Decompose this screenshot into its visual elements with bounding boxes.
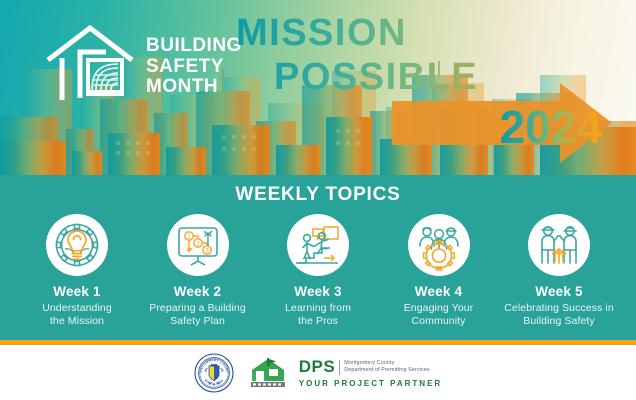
weeks-row: Week 1 Understanding the Mission: [0, 206, 636, 328]
week-5-desc: Celebrating Success in Building Safety: [504, 302, 614, 328]
dps-full-name: Montgomery County Department of Permitti…: [344, 360, 429, 375]
week-card-4[interactable]: Week 4 Engaging Your Community: [380, 214, 498, 328]
week-5-label: Week 5: [535, 284, 582, 299]
week-3-desc: Learning from the Pros: [285, 302, 351, 328]
dps-full-line1: Montgomery County: [344, 360, 429, 367]
week-1-icon-wrap: [46, 214, 108, 276]
week-3-label: Week 3: [294, 284, 341, 299]
week-2-label: Week 2: [174, 284, 221, 299]
week-4-icon-wrap: [408, 214, 470, 276]
week-2-desc: Preparing a Building Safety Plan: [149, 302, 246, 328]
dps-house-icon: [248, 356, 294, 390]
dps-tagline: YOUR PROJECT PARTNER: [299, 379, 442, 388]
headline-line-possible: POSSIBLE: [232, 58, 632, 96]
week-card-1[interactable]: Week 1 Understanding the Mission: [18, 214, 136, 328]
dome-panel-icon: [88, 60, 122, 94]
footer-logos: MONTGOMERY COUNTY MARYLAND 17 76: [0, 345, 636, 400]
weekly-topics-section: WEEKLY TOPICS: [0, 175, 636, 340]
building-safety-month-poster: BUILDING SAFETY MONTH MISSION POSSIBLE 2…: [0, 0, 636, 400]
high-five-arrows-icon: [533, 219, 585, 271]
week-3-icon-wrap: [287, 214, 349, 276]
dps-full-line2: Department of Permitting Services: [344, 367, 429, 374]
year-label: 2024: [500, 104, 602, 150]
headline-line-mission: MISSION: [232, 14, 632, 52]
dps-text-block: DPS Montgomery County Department of Perm…: [299, 357, 442, 388]
mentor-stairs-icon: [292, 219, 344, 271]
week-1-desc: Understanding the Mission: [42, 302, 112, 328]
week-1-label: Week 1: [53, 284, 100, 299]
dps-divider: [339, 360, 340, 375]
dps-logo: DPS Montgomery County Department of Perm…: [248, 356, 442, 390]
mission-possible-headline: MISSION POSSIBLE: [232, 14, 632, 104]
svg-text:76: 76: [216, 381, 220, 385]
week-4-label: Week 4: [415, 284, 462, 299]
hero-banner: BUILDING SAFETY MONTH MISSION POSSIBLE 2…: [0, 0, 636, 175]
weekly-topics-title: WEEKLY TOPICS: [0, 175, 636, 206]
montgomery-county-maryland-seal: MONTGOMERY COUNTY MARYLAND 17 76: [194, 353, 234, 393]
week-card-2[interactable]: 1 2 3 Week 2 Preparing a Building Safety…: [139, 214, 257, 328]
dps-abbreviation: DPS: [299, 357, 335, 377]
week-card-3[interactable]: Week 3 Learning from the Pros: [259, 214, 377, 328]
flowchart-board-icon: 1 2 3: [172, 219, 224, 271]
dps-name-row: DPS Montgomery County Department of Perm…: [299, 357, 442, 377]
week-2-icon-wrap: 1 2 3: [167, 214, 229, 276]
house-with-dome-icon: [44, 24, 140, 102]
week-5-icon-wrap: [528, 214, 590, 276]
week-card-5[interactable]: Week 5 Celebrating Success in Building S…: [500, 214, 618, 328]
community-gear-icon: [413, 219, 465, 271]
svg-text:17: 17: [208, 381, 212, 385]
week-4-desc: Engaging Your Community: [404, 302, 474, 328]
gear-lightbulb-icon: [51, 219, 103, 271]
